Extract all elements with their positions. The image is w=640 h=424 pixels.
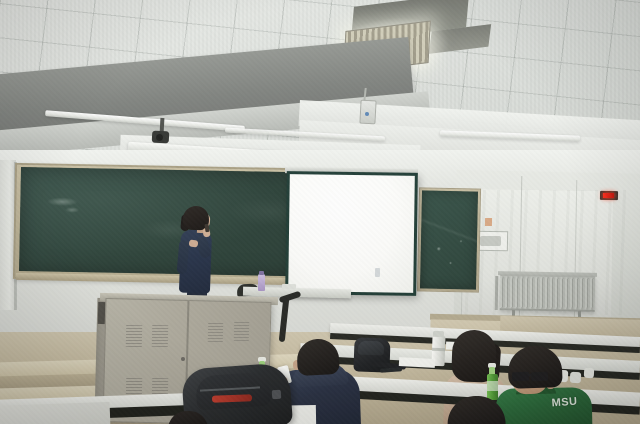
radiator-pipe <box>495 276 499 310</box>
locker-vent-icon <box>126 325 143 347</box>
blackboard-right-chalk-marks <box>420 190 478 289</box>
bottle-label <box>487 381 498 391</box>
projector-lens-icon <box>156 134 163 141</box>
desk-cup <box>584 368 595 379</box>
eyeglasses-icon <box>531 372 548 382</box>
desk-cup <box>570 372 582 384</box>
speaker-indicator-icon <box>365 112 369 116</box>
eyeglasses-bridge <box>528 374 532 376</box>
foreground-backpack-tag <box>272 390 282 400</box>
backpack-flap <box>358 341 384 356</box>
thermos-band <box>432 348 445 351</box>
radiator <box>500 274 596 312</box>
locker-handle-icon <box>181 357 185 361</box>
red-led-indicator-icon <box>603 193 614 198</box>
student-c-shirt-text: MSU <box>551 395 593 422</box>
locker-vent-icon <box>234 321 249 341</box>
foreground-corner-surface <box>0 402 110 424</box>
eyeglasses-icon <box>512 372 529 382</box>
podium-paper <box>282 284 296 289</box>
projection-screen <box>288 174 415 293</box>
locker-vent-icon <box>208 322 223 342</box>
thermos-cap-icon <box>433 331 444 337</box>
wall-sign-inner <box>480 236 501 246</box>
purple-water-bottle <box>258 274 265 291</box>
desk-papers <box>399 357 435 368</box>
bottle-cap-icon <box>259 271 264 275</box>
locker-vent-icon <box>152 325 169 347</box>
classroom-photo: MSU <box>0 0 640 424</box>
wall-notice-icon <box>485 218 492 226</box>
presenter-hand-left <box>189 239 199 247</box>
projection-screen-mark <box>375 268 380 277</box>
foreground-backpack-red-stripe <box>212 394 252 402</box>
